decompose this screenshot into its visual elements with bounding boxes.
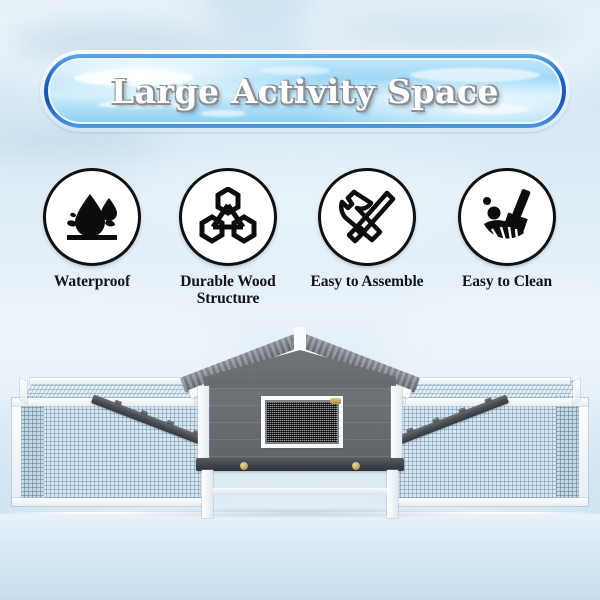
product-image <box>0 322 600 522</box>
hutch-mesh-door[interactable] <box>261 396 343 448</box>
left-run-enclosure <box>12 378 210 510</box>
broom-icon <box>458 168 556 266</box>
feature-easy-clean[interactable]: Easy to Clean <box>432 168 582 290</box>
right-run-enclosure <box>390 378 588 510</box>
run-mesh-front <box>18 400 204 502</box>
feature-label: Waterproof <box>17 273 167 290</box>
hutch-legs <box>202 470 398 518</box>
hutch-corner-post-left <box>198 386 209 468</box>
wrench-screwdriver-icon <box>318 168 416 266</box>
door-wire-mesh <box>265 400 339 444</box>
run-frame-bottom-rail <box>390 498 588 506</box>
feature-label: Easy to Assemble <box>292 273 442 290</box>
molecule-hexagon-icon <box>179 168 277 266</box>
hutch-leg-left <box>202 470 213 518</box>
run-mesh-front <box>396 400 582 502</box>
water-drop-icon <box>43 168 141 266</box>
door-latch-icon[interactable] <box>330 398 341 404</box>
run-frame-right-post <box>579 398 588 506</box>
page-title: Large Activity Space <box>40 50 570 132</box>
feature-waterproof[interactable]: Waterproof <box>17 168 167 290</box>
hutch-corner-post-right <box>391 386 402 468</box>
feature-label: Easy to Clean <box>432 273 582 290</box>
tray-knob-left[interactable] <box>240 462 248 470</box>
tray-knob-right[interactable] <box>352 462 360 470</box>
run-mesh-side <box>20 396 44 500</box>
feature-easy-assemble[interactable]: Easy to Assemble <box>292 168 442 290</box>
run-frame-back-left-post <box>20 378 27 404</box>
feature-label: Durable Wood Structure <box>153 273 303 308</box>
feature-list: Waterproof Durable Wood Structure <box>0 168 600 298</box>
hutch-leg-right <box>387 470 398 518</box>
floor-surface <box>0 514 600 600</box>
run-mesh-side <box>556 396 580 500</box>
run-frame-back-rail <box>408 378 570 384</box>
run-frame-back-rail <box>30 378 192 384</box>
feature-durable-wood[interactable]: Durable Wood Structure <box>153 168 303 308</box>
headline-banner: Large Activity Space <box>40 50 570 132</box>
run-frame-bottom-rail <box>12 498 210 506</box>
hutch-house <box>186 330 414 512</box>
product-feature-banner-image: Large Activity Space Waterproof <box>0 0 600 600</box>
hutch-under-rail <box>213 488 387 495</box>
run-frame-left-post <box>12 398 21 506</box>
run-frame-back-right-post <box>573 378 580 404</box>
